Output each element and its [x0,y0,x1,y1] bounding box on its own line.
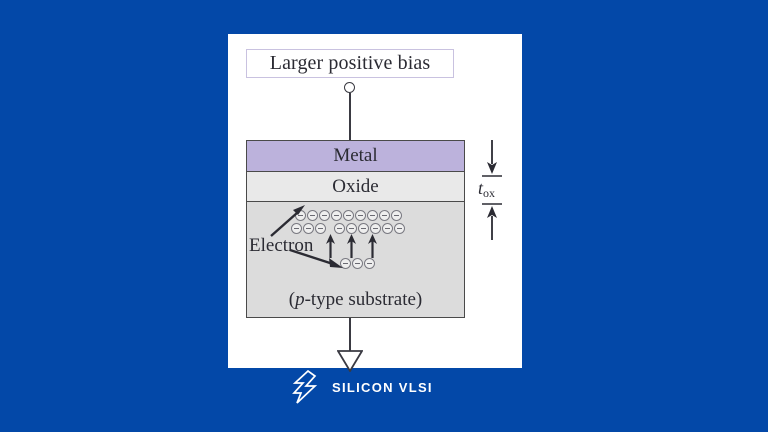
electron-symbol [331,210,342,221]
up-arrow-icon [366,234,379,258]
substrate-caption-italic: p [295,289,305,310]
tox-subscript: ox [483,186,495,200]
bias-label-text: Larger positive bias [270,52,430,75]
charge-row-top [295,210,403,221]
electron-symbol [391,210,402,221]
layer-metal-label: Metal [333,145,377,167]
electron-pointer-arrow-down-icon [289,248,347,270]
substrate-caption-suffix: -type substrate) [305,289,423,310]
watermark: SILICON VLSI [292,370,433,404]
bottom-arrowhead-icon [337,350,363,372]
electron-symbol [370,223,381,234]
charge-row-gap [327,223,334,234]
electron-symbol [334,223,345,234]
electron-symbol [346,223,357,234]
top-lead-wire [349,93,351,140]
electron-symbol [315,223,326,234]
electron-symbol [358,223,369,234]
bias-label-box: Larger positive bias [246,49,454,78]
layer-oxide-label: Oxide [332,176,378,198]
tox-dimension: tox [470,138,514,242]
electron-symbol [367,210,378,221]
tox-label: tox [478,178,495,201]
device-stack: Metal Oxide [246,140,465,318]
layer-substrate: Electron (p-type substrate) [247,202,464,317]
substrate-caption: (p-type substrate) [247,289,464,311]
layer-oxide: Oxide [247,172,464,202]
electron-symbol [355,210,366,221]
substrate-inner: Electron (p-type substrate) [247,202,464,317]
electron-symbol [394,223,405,234]
lightning-bolt-icon [292,370,318,404]
layer-metal: Metal [247,141,464,172]
electron-symbol [364,258,375,269]
watermark-text: SILICON VLSI [332,380,433,395]
electron-symbol [343,210,354,221]
electron-symbol [352,258,363,269]
electron-symbol [319,210,330,221]
figure-panel: Larger positive bias Metal Oxide [228,34,522,368]
electron-symbol [382,223,393,234]
top-terminal-circle-icon [344,82,355,93]
electron-pointer-arrow-up-icon [269,204,309,238]
electron-symbol [379,210,390,221]
